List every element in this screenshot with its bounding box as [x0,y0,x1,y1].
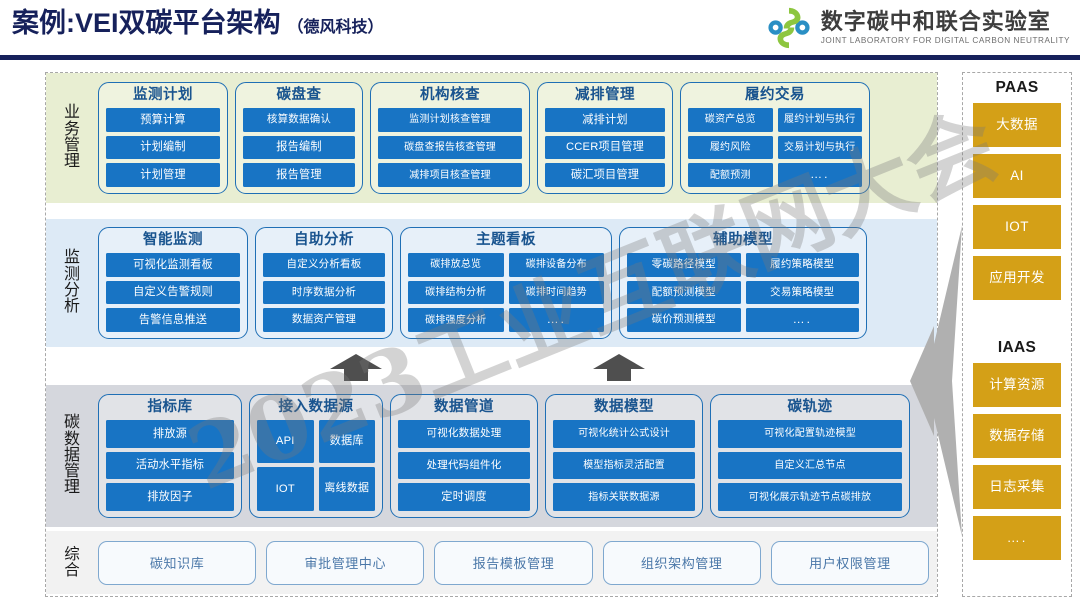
iaas-section: IAAS 计算资源 数据存储 日志采集 …. [973,339,1061,567]
tile[interactable]: 监测计划核查管理 [378,108,522,132]
tile-row: CCER项目管理 [545,136,665,160]
tile[interactable]: 数据库 [319,420,376,464]
tile[interactable]: 履约计划与执行 [778,108,863,132]
group-card[interactable]: 碳轨迹 可视化配置轨迹模型 自定义汇总节点 可视化展示轨迹节点碳排放 [710,394,910,518]
group-tiles: 核算数据确认 报告编制 报告管理 [243,108,355,187]
architecture-diagram: 业务管理 监测计划 预算计算 计划编制 计划管理 碳盘查 核算数据确认 报告编制 [0,58,1080,607]
three-ring-logo-icon [765,6,813,50]
tile[interactable]: 可视化展示轨迹节点碳排放 [718,483,902,511]
up-arrow-icon-right [591,352,647,382]
general-pill[interactable]: 用户权限管理 [771,541,929,585]
tile[interactable]: 碳盘查报告核查管理 [378,136,522,160]
group-card[interactable]: 指标库 排放源 活动水平指标 排放因子 [98,394,242,518]
group-card[interactable]: 接入数据源 API 数据库 IOT 离线数据 [249,394,383,518]
lab-logo: 数字碳中和联合实验室 JOINT LABORATORY FOR DIGITAL … [765,6,1070,50]
group-tiles: API 数据库 IOT 离线数据 [257,420,375,511]
tile[interactable]: 离线数据 [319,467,376,511]
group-card[interactable]: 机构核查 监测计划核查管理 碳盘查报告核查管理 减排项目核查管理 [370,82,530,194]
band-label-general: 综合 [46,531,98,594]
lab-logo-cn: 数字碳中和联合实验室 [821,10,1070,34]
tile[interactable]: 配额预测 [688,163,773,187]
tile[interactable]: 计划管理 [106,163,220,187]
tile-row: 履约风险 交易计划与执行 [688,136,862,160]
tile[interactable]: 碳价预测模型 [627,308,741,332]
tile[interactable]: 减排项目核查管理 [378,163,522,187]
lab-logo-en: JOINT LABORATORY FOR DIGITAL CARBON NEUT… [821,36,1070,46]
tile-row: 碳盘查报告核查管理 [378,136,522,160]
tile-row: 指标关联数据源 [553,483,695,511]
tile[interactable]: 可视化统计公式设计 [553,420,695,448]
infrastructure-frame: PAAS 大数据 AI IOT 应用开发 IAAS 计算资源 数据存储 日志采集… [962,72,1072,597]
group-title: 自助分析 [263,233,385,249]
tile-row: 可视化展示轨迹节点碳排放 [718,483,902,511]
tile-row: 碳排结构分析 碳排时间趋势 [408,281,604,305]
tile[interactable]: 模型指标灵活配置 [553,452,695,480]
tile[interactable]: 自定义汇总节点 [718,452,902,480]
tile-row: 可视化监测看板 [106,253,240,277]
tile-more[interactable]: …. [509,308,605,332]
tile-row: 报告管理 [243,163,355,187]
tile[interactable]: CCER项目管理 [545,136,665,160]
tile-row: 碳排强度分析 …. [408,308,604,332]
group-title: 指标库 [106,400,234,416]
paas-item[interactable]: 应用开发 [973,256,1061,300]
general-pill[interactable]: 审批管理中心 [266,541,424,585]
tile-row: 计划编制 [106,136,220,160]
group-tiles: 碳资产总览 履约计划与执行 履约风险 交易计划与执行 配额预测 …. [688,108,862,187]
group-tiles: 监测计划核查管理 碳盘查报告核查管理 减排项目核查管理 [378,108,522,187]
up-arrow-icon-left [328,352,384,382]
tile-more[interactable]: …. [746,308,860,332]
tile[interactable]: 计划编制 [106,136,220,160]
paas-item[interactable]: 大数据 [973,103,1061,147]
page-title-main: 案例:VEI双碳平台架构 [12,10,281,37]
tile-row: 零碳路径模型 履约策略模型 [627,253,859,277]
tile[interactable]: 核算数据确认 [243,108,355,132]
tile-row: 监测计划核查管理 [378,108,522,132]
tile[interactable]: 告警信息推送 [106,308,240,332]
group-card[interactable]: 数据管道 可视化数据处理 处理代码组件化 定时调度 [390,394,538,518]
group-tiles: 零碳路径模型 履约策略模型 配额预测模型 交易策略模型 碳价预测模型 …. [627,253,859,332]
band-body-data: 指标库 排放源 活动水平指标 排放因子 接入数据源 API 数据库 [98,385,937,527]
tile[interactable]: IOT [257,467,314,511]
group-title: 履约交易 [688,88,862,104]
group-tiles: 排放源 活动水平指标 排放因子 [106,420,234,511]
tile[interactable]: 可视化监测看板 [106,253,240,277]
tile[interactable]: 碳排强度分析 [408,308,504,332]
tile[interactable]: 交易计划与执行 [778,136,863,160]
tile[interactable]: 碳资产总览 [688,108,773,132]
iaas-item[interactable]: 日志采集 [973,465,1061,509]
tile-row: 报告编制 [243,136,355,160]
tile[interactable]: 交易策略模型 [746,281,860,305]
group-title: 碳轨迹 [718,400,902,416]
band-label-business: 业务管理 [46,73,98,203]
group-title: 碳盘查 [243,88,355,104]
group-title: 减排管理 [545,88,665,104]
tile-row: API 数据库 [257,420,375,464]
band-monitoring-analysis: 监测分析 智能监测 可视化监测看板 自定义告警规则 告警信息推送 自助分析 自定… [46,219,937,347]
tile[interactable]: 活动水平指标 [106,452,234,480]
band-body-general: 碳知识库 审批管理中心 报告模板管理 组织架构管理 用户权限管理 [98,531,937,594]
tile-row: 自定义告警规则 [106,281,240,305]
tile[interactable]: 自定义告警规则 [106,281,240,305]
group-card[interactable]: 辅助模型 零碳路径模型 履约策略模型 配额预测模型 交易策略模型 碳价预测模型 [619,227,867,339]
iaas-title: IAAS [973,339,1061,357]
group-card[interactable]: 碳盘查 核算数据确认 报告编制 报告管理 [235,82,363,194]
tile[interactable]: 预算计算 [106,108,220,132]
group-title: 辅助模型 [627,233,859,249]
tile[interactable]: 自定义分析看板 [263,253,385,277]
group-title: 机构核查 [378,88,522,104]
band-label-data-text: 碳数据管理 [64,415,80,497]
tile[interactable]: 碳排结构分析 [408,281,504,305]
group-tiles: 预算计算 计划编制 计划管理 [106,108,220,187]
iaas-item-more[interactable]: …. [973,516,1061,560]
tile-row: 可视化配置轨迹模型 [718,420,902,448]
tile[interactable]: 履约风险 [688,136,773,160]
tile[interactable]: 处理代码组件化 [398,452,530,480]
group-card[interactable]: 减排管理 减排计划 CCER项目管理 碳汇项目管理 [537,82,673,194]
tile-row: 碳汇项目管理 [545,163,665,187]
group-card[interactable]: 自助分析 自定义分析看板 时序数据分析 数据资产管理 [255,227,393,339]
tile[interactable]: 碳排放总览 [408,253,504,277]
group-tiles: 自定义分析看板 时序数据分析 数据资产管理 [263,253,385,332]
tile[interactable]: 报告编制 [243,136,355,160]
tile-row: 预算计算 [106,108,220,132]
group-title: 数据模型 [553,400,695,416]
tile[interactable]: 可视化数据处理 [398,420,530,448]
group-title: 数据管道 [398,400,530,416]
tile-row: 减排计划 [545,108,665,132]
tile-row: 排放源 [106,420,234,448]
group-tiles: 可视化统计公式设计 模型指标灵活配置 指标关联数据源 [553,420,695,511]
group-tiles: 碳排放总览 碳排设备分布 碳排结构分析 碳排时间趋势 碳排强度分析 …. [408,253,604,332]
band-body-business: 监测计划 预算计算 计划编制 计划管理 碳盘查 核算数据确认 报告编制 报告管理 [98,73,937,203]
band-carbon-data-management: 碳数据管理 指标库 排放源 活动水平指标 排放因子 接入数据源 API [46,385,937,527]
group-card[interactable]: 履约交易 碳资产总览 履约计划与执行 履约风险 交易计划与执行 配额预测 …. [680,82,870,194]
tile-row: 计划管理 [106,163,220,187]
tile-row: IOT 离线数据 [257,467,375,511]
group-tiles: 可视化配置轨迹模型 自定义汇总节点 可视化展示轨迹节点碳排放 [718,420,902,511]
group-title: 智能监测 [106,233,240,249]
tile-row: 可视化统计公式设计 [553,420,695,448]
tile-row: 处理代码组件化 [398,452,530,480]
general-pill[interactable]: 碳知识库 [98,541,256,585]
paas-item[interactable]: AI [973,154,1061,198]
tile-row: 减排项目核查管理 [378,163,522,187]
tile[interactable]: 排放源 [106,420,234,448]
group-tiles: 减排计划 CCER项目管理 碳汇项目管理 [545,108,665,187]
tile[interactable]: 碳排时间趋势 [509,281,605,305]
tile-row: 配额预测 …. [688,163,862,187]
band-general: 综合 碳知识库 审批管理中心 报告模板管理 组织架构管理 用户权限管理 [46,531,937,594]
tile-row: 配额预测模型 交易策略模型 [627,281,859,305]
page-title: 案例:VEI双碳平台架构 （德风科技） [12,10,384,37]
band-label-monitoring-text: 监测分析 [64,250,80,315]
group-card[interactable]: 监测计划 预算计算 计划编制 计划管理 [98,82,228,194]
band-label-monitoring: 监测分析 [46,219,98,347]
tile-row: 核算数据确认 [243,108,355,132]
tile-row: 时序数据分析 [263,281,385,305]
tile[interactable]: 时序数据分析 [263,281,385,305]
tile-row: 碳价预测模型 …. [627,308,859,332]
tile-row: 排放因子 [106,483,234,511]
tile-row: 碳排放总览 碳排设备分布 [408,253,604,277]
group-title: 接入数据源 [257,400,375,416]
group-card[interactable]: 数据模型 可视化统计公式设计 模型指标灵活配置 指标关联数据源 [545,394,703,518]
tile[interactable]: 数据资产管理 [263,308,385,332]
tile[interactable]: 指标关联数据源 [553,483,695,511]
tile[interactable]: 配额预测模型 [627,281,741,305]
paas-item[interactable]: IOT [973,205,1061,249]
page-title-sub: （德风科技） [288,13,384,37]
band-business-management: 业务管理 监测计划 预算计算 计划编制 计划管理 碳盘查 核算数据确认 报告编制 [46,73,937,203]
tile[interactable]: 零碳路径模型 [627,253,741,277]
tile-row: 自定义分析看板 [263,253,385,277]
iaas-item[interactable]: 计算资源 [973,363,1061,407]
group-tiles: 可视化数据处理 处理代码组件化 定时调度 [398,420,530,511]
page-header: 案例:VEI双碳平台架构 （德风科技） 数字碳中和联合实验室 JOINT LAB… [0,0,1080,58]
tile[interactable]: 排放因子 [106,483,234,511]
band-label-business-text: 业务管理 [64,105,80,170]
tile-row: 告警信息推送 [106,308,240,332]
paas-title: PAAS [973,79,1061,97]
tile-row: 活动水平指标 [106,452,234,480]
lab-logo-text: 数字碳中和联合实验室 JOINT LABORATORY FOR DIGITAL … [821,10,1070,46]
tile-row: 碳资产总览 履约计划与执行 [688,108,862,132]
group-card[interactable]: 智能监测 可视化监测看板 自定义告警规则 告警信息推送 [98,227,248,339]
group-title: 主题看板 [408,233,604,249]
platform-main-frame: 业务管理 监测计划 预算计算 计划编制 计划管理 碳盘查 核算数据确认 报告编制 [45,72,938,597]
tile-more[interactable]: …. [778,163,863,187]
group-card[interactable]: 主题看板 碳排放总览 碳排设备分布 碳排结构分析 碳排时间趋势 碳排强度分析 … [400,227,612,339]
platform-support-arrow-icon [908,226,963,536]
group-tiles: 可视化监测看板 自定义告警规则 告警信息推送 [106,253,240,332]
tile[interactable]: 减排计划 [545,108,665,132]
general-pill[interactable]: 报告模板管理 [434,541,592,585]
group-title: 监测计划 [106,88,220,104]
tile-row: 可视化数据处理 [398,420,530,448]
tile[interactable]: 碳排设备分布 [509,253,605,277]
tile[interactable]: API [257,420,314,464]
band-label-data: 碳数据管理 [46,385,98,527]
band-label-general-text: 综合 [64,547,80,579]
general-pill[interactable]: 组织架构管理 [603,541,761,585]
tile-row: 定时调度 [398,483,530,511]
tile-row: 数据资产管理 [263,308,385,332]
tile[interactable]: 报告管理 [243,163,355,187]
tile[interactable]: 履约策略模型 [746,253,860,277]
tile-row: 模型指标灵活配置 [553,452,695,480]
tile-row: 自定义汇总节点 [718,452,902,480]
tile[interactable]: 定时调度 [398,483,530,511]
tile[interactable]: 碳汇项目管理 [545,163,665,187]
band-body-monitoring: 智能监测 可视化监测看板 自定义告警规则 告警信息推送 自助分析 自定义分析看板… [98,219,937,347]
iaas-item[interactable]: 数据存储 [973,414,1061,458]
paas-section: PAAS 大数据 AI IOT 应用开发 [973,79,1061,307]
tile[interactable]: 可视化配置轨迹模型 [718,420,902,448]
